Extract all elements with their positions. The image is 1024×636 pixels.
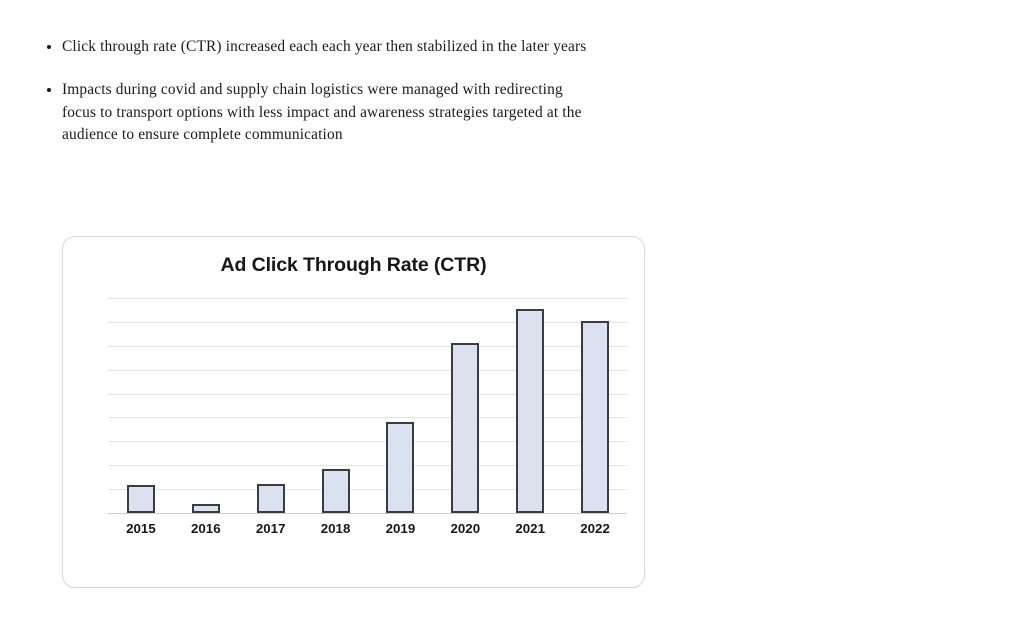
list-item-text: Impacts during covid and supply chain lo…: [62, 81, 582, 143]
x-axis-tick-label: 2018: [306, 521, 366, 536]
chart-bar: [192, 504, 220, 513]
bullet-dot-icon: [47, 45, 51, 49]
x-axis-tick-label: 2016: [176, 521, 236, 536]
chart-card: Ad Click Through Rate (CTR) 201520162017…: [62, 236, 645, 588]
chart-bar: [386, 422, 414, 513]
list-item-text: Click through rate (CTR) increased each …: [62, 38, 586, 55]
bullet-list: Click through rate (CTR) increased each …: [40, 36, 600, 146]
x-axis-tick-label: 2020: [435, 521, 495, 536]
chart-bar: [581, 321, 609, 513]
chart-bars: [108, 298, 627, 515]
chart-bar: [451, 343, 479, 513]
x-axis-tick-label: 2017: [241, 521, 301, 536]
x-axis-tick-label: 2021: [500, 521, 560, 536]
list-item: Click through rate (CTR) increased each …: [40, 36, 600, 58]
x-axis-tick-label: 2019: [370, 521, 430, 536]
chart-plot-area: [108, 298, 627, 515]
chart-bar: [322, 469, 350, 513]
chart-x-axis-labels: 20152016201720182019202020212022: [108, 521, 627, 543]
chart-bar: [127, 485, 155, 513]
chart-bar: [516, 309, 544, 513]
list-item: Impacts during covid and supply chain lo…: [40, 79, 600, 146]
x-axis-tick-label: 2022: [565, 521, 625, 536]
x-axis-tick-label: 2015: [111, 521, 171, 536]
bullet-dot-icon: [47, 88, 51, 92]
chart-title: Ad Click Through Rate (CTR): [63, 254, 644, 277]
chart-bar: [257, 484, 285, 513]
